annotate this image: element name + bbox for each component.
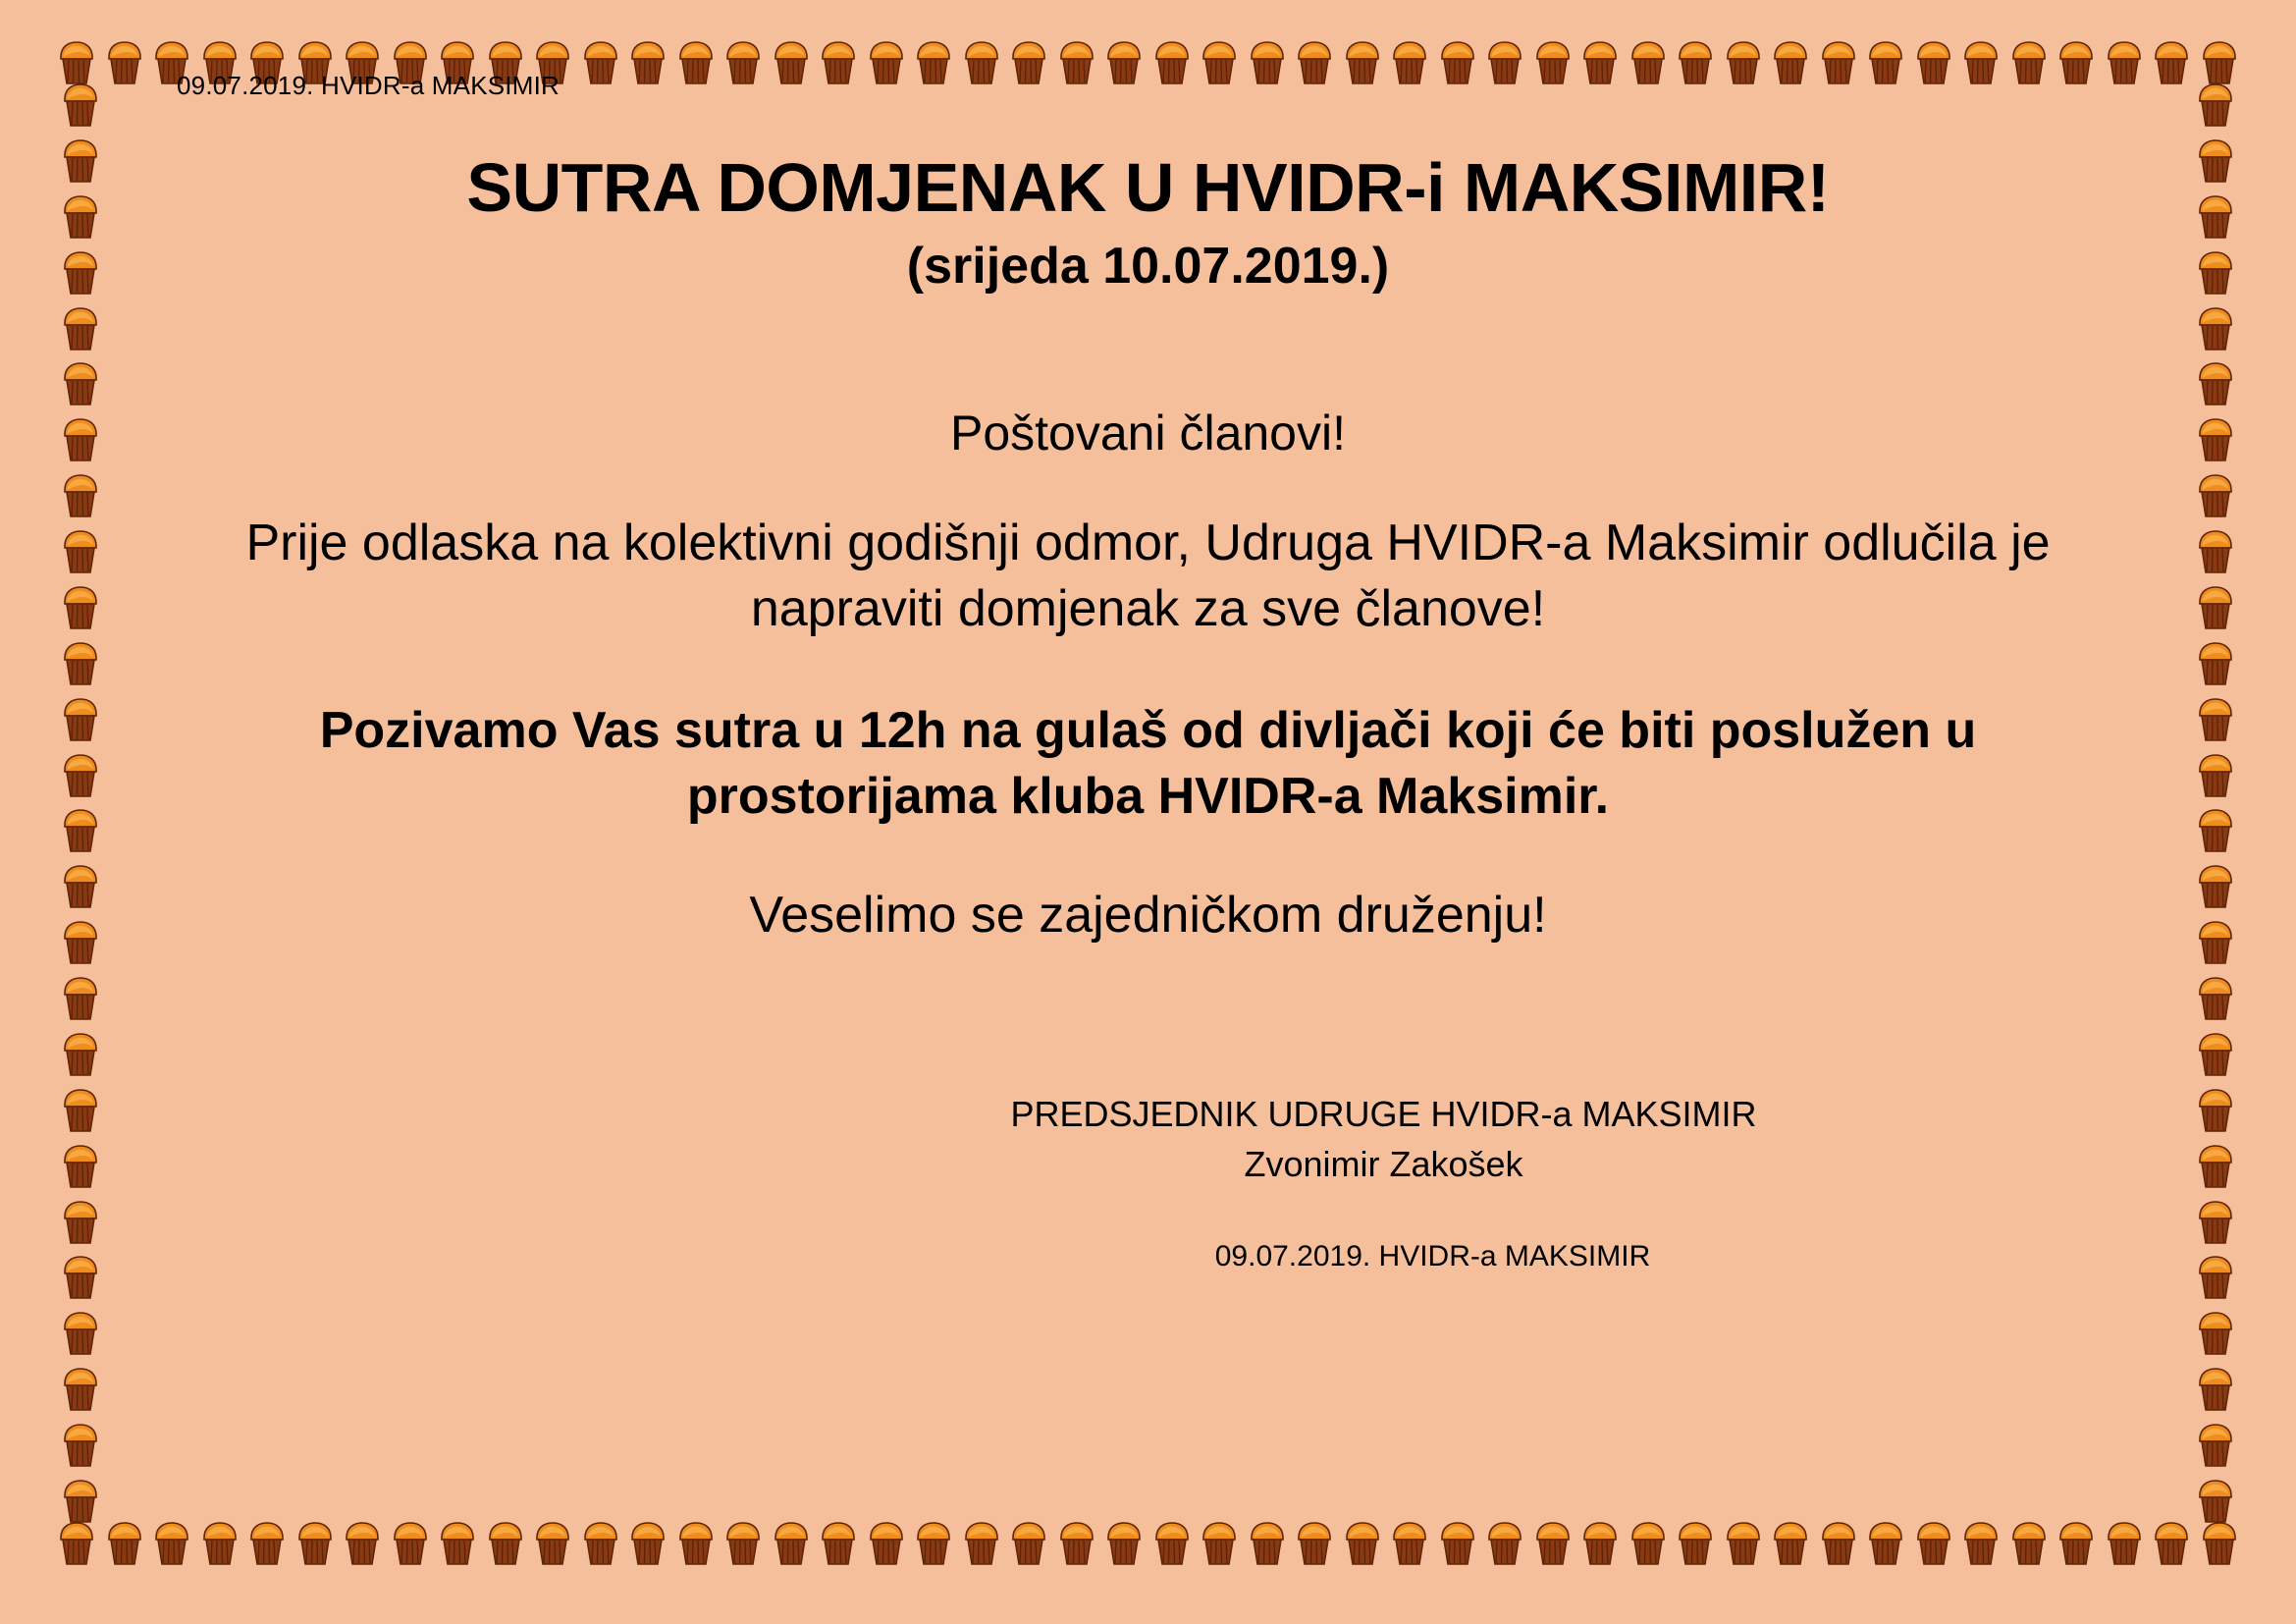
muffin-icon (2009, 1521, 2049, 1566)
muffin-icon (2196, 529, 2235, 574)
muffin-icon (2196, 1255, 2235, 1300)
muffin-icon (61, 306, 100, 352)
muffin-icon (247, 1521, 287, 1566)
muffin-icon (61, 808, 100, 853)
muffin-icon (2196, 1088, 2235, 1133)
signature-role: PREDSJEDNIK UDRUGE HVIDR-a MAKSIMIR (118, 1092, 2041, 1138)
page-title: SUTRA DOMJENAK U HVIDR-i MAKSIMIR! (118, 152, 2178, 225)
muffin-icon (676, 1521, 716, 1566)
muffin-icon (61, 1311, 100, 1356)
muffin-icon (61, 641, 100, 686)
muffin-icon (57, 40, 96, 85)
muffin-icon (2196, 194, 2235, 240)
muffin-icon (2196, 808, 2235, 853)
muffin-icon (1771, 1521, 1810, 1566)
muffin-icon (2196, 1032, 2235, 1077)
muffin-icon (61, 1088, 100, 1133)
muffin-icon (57, 1521, 96, 1566)
muffin-icon (438, 1521, 477, 1566)
muffin-icon (2196, 82, 2235, 128)
muffin-icon (2196, 641, 2235, 686)
muffin-icon (628, 1521, 667, 1566)
muffin-icon (391, 1521, 430, 1566)
muffin-icon (1866, 1521, 1905, 1566)
muffin-icon (2196, 1367, 2235, 1412)
muffin-icon (2196, 1144, 2235, 1189)
muffin-icon (295, 1521, 335, 1566)
muffin-icon (2196, 1423, 2235, 1468)
muffin-icon (723, 1521, 763, 1566)
muffin-icon (1676, 1521, 1715, 1566)
muffin-icon (61, 529, 100, 574)
muffin-icon (343, 1521, 382, 1566)
muffin-icon (1580, 1521, 1620, 1566)
muffin-icon (2196, 697, 2235, 742)
footer-meta-line: 09.07.2019. HVIDR-a MAKSIMIR (118, 1240, 2178, 1273)
muffin-icon (61, 417, 100, 462)
muffin-icon (2196, 976, 2235, 1021)
muffin-icon (2196, 361, 2235, 406)
muffin-icon (2200, 40, 2239, 85)
muffin-icon (2196, 306, 2235, 352)
signature-name: Zvonimir Zakošek (118, 1138, 2041, 1191)
muffin-icon (61, 697, 100, 742)
muffin-icon (1152, 1521, 1192, 1566)
muffin-icon (1533, 1521, 1573, 1566)
muffin-icon (2196, 585, 2235, 630)
muffin-icon (61, 864, 100, 909)
muffin-icon (61, 82, 100, 128)
border-column-right (2192, 82, 2239, 1524)
muffin-icon (61, 250, 100, 296)
muffin-icon (61, 1200, 100, 1245)
page-subtitle: (srijeda 10.07.2019.) (118, 239, 2178, 295)
muffin-icon (2105, 1521, 2144, 1566)
body-paragraph-1: Prije odlaska na kolektivni godišnji odm… (208, 511, 2088, 643)
muffin-icon (61, 194, 100, 240)
muffin-icon (867, 1521, 906, 1566)
muffin-icon (2196, 138, 2235, 184)
muffin-icon (914, 1521, 953, 1566)
muffin-icon (61, 1032, 100, 1077)
muffin-icon (1914, 1521, 1953, 1566)
muffin-icon (1961, 1521, 2001, 1566)
muffin-icon (2196, 753, 2235, 798)
poster-page: 09.07.2019. HVIDR-a MAKSIMIR SUTRA DOMJE… (0, 0, 2296, 1624)
muffin-icon (61, 1423, 100, 1468)
muffin-icon (581, 1521, 620, 1566)
body-paragraph-2: Pozivamo Vas sutra u 12h na gulaš od div… (208, 698, 2088, 831)
greeting-text: Poštovani članovi! (118, 405, 2178, 461)
muffin-icon (1724, 1521, 1763, 1566)
muffin-icon (61, 585, 100, 630)
muffin-icon (61, 1144, 100, 1189)
muffin-icon (962, 1521, 1001, 1566)
muffin-icon (61, 138, 100, 184)
muffin-icon (486, 1521, 525, 1566)
muffin-icon (152, 1521, 191, 1566)
muffin-icon (2196, 1200, 2235, 1245)
muffin-icon (1390, 1521, 1429, 1566)
muffin-icon (1057, 1521, 1096, 1566)
poster-content: 09.07.2019. HVIDR-a MAKSIMIR SUTRA DOMJE… (118, 57, 2178, 1526)
muffin-icon (2196, 250, 2235, 296)
border-row-bottom (57, 1520, 2239, 1567)
muffin-icon (1629, 1521, 1668, 1566)
muffin-icon (105, 1521, 144, 1566)
muffin-icon (61, 361, 100, 406)
muffin-icon (1104, 1521, 1144, 1566)
muffin-icon (61, 920, 100, 965)
muffin-icon (2200, 1521, 2239, 1566)
muffin-icon (1248, 1521, 1287, 1566)
muffin-icon (1819, 1521, 1858, 1566)
muffin-icon (819, 1521, 858, 1566)
muffin-icon (61, 753, 100, 798)
muffin-icon (61, 473, 100, 518)
muffin-icon (61, 1479, 100, 1524)
signature-block: PREDSJEDNIK UDRUGE HVIDR-a MAKSIMIR Zvon… (118, 1092, 2178, 1191)
muffin-icon (2056, 1521, 2096, 1566)
muffin-icon (2196, 1479, 2235, 1524)
muffin-icon (1438, 1521, 1477, 1566)
muffin-icon (2196, 417, 2235, 462)
muffin-icon (1295, 1521, 1334, 1566)
closing-text: Veselimo se zajedničkom druženju! (118, 886, 2178, 945)
muffin-icon (1200, 1521, 1239, 1566)
muffin-icon (533, 1521, 572, 1566)
border-column-left (57, 82, 104, 1524)
muffin-icon (1009, 1521, 1048, 1566)
muffin-icon (2152, 1521, 2191, 1566)
muffin-icon (2196, 473, 2235, 518)
muffin-icon (1343, 1521, 1382, 1566)
muffin-icon (200, 1521, 240, 1566)
muffin-icon (2196, 864, 2235, 909)
header-meta-line: 09.07.2019. HVIDR-a MAKSIMIR (177, 71, 2178, 101)
muffin-icon (1485, 1521, 1524, 1566)
muffin-icon (2196, 920, 2235, 965)
muffin-icon (61, 1255, 100, 1300)
muffin-icon (61, 1367, 100, 1412)
muffin-icon (772, 1521, 811, 1566)
muffin-icon (2196, 1311, 2235, 1356)
muffin-icon (61, 976, 100, 1021)
